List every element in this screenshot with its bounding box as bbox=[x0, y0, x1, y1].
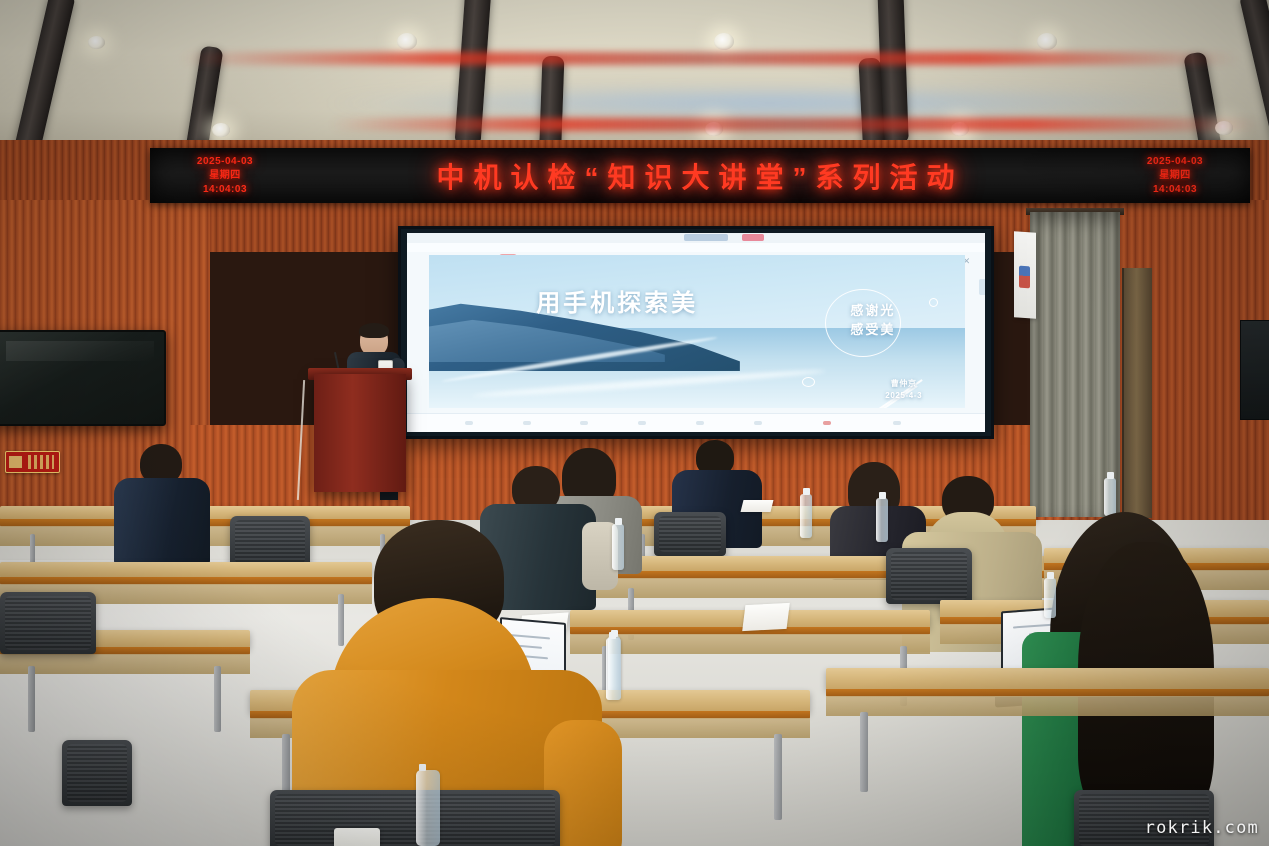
led-banner-title: 中机认检“知识大讲堂”系列活动 bbox=[300, 156, 1100, 196]
water-bottle bbox=[876, 498, 888, 542]
water-bottle bbox=[1044, 578, 1056, 618]
chair-mesh bbox=[67, 744, 127, 802]
ceiling-downlight bbox=[1037, 33, 1057, 50]
footer-icon bbox=[523, 421, 531, 425]
document-paper bbox=[741, 500, 774, 512]
footer-icon bbox=[638, 421, 646, 425]
projection-screen: ✕ 用手机探索美 感谢光 感受美 曹仲京 2025- bbox=[398, 226, 994, 439]
water-bottle bbox=[606, 638, 621, 700]
speaker-hair bbox=[359, 323, 389, 338]
led-date-left: 2025-04-03 bbox=[150, 155, 300, 169]
podium bbox=[314, 374, 406, 492]
led-date-right: 2025-04-03 bbox=[1100, 155, 1250, 169]
ceiling-downlight bbox=[397, 33, 417, 50]
footer-icon bbox=[580, 421, 588, 425]
chair bbox=[270, 790, 560, 846]
app-subtoolbar bbox=[407, 243, 985, 252]
laptop-text-line bbox=[510, 634, 550, 639]
paper-cup bbox=[334, 828, 380, 846]
app-footer-bar bbox=[407, 413, 985, 432]
ceiling-downlight bbox=[212, 123, 230, 137]
desk bbox=[0, 562, 372, 578]
ceiling-led-reflection bbox=[180, 52, 1240, 65]
side-door bbox=[1122, 268, 1152, 518]
screen-side-tab bbox=[979, 279, 985, 295]
wall-tv-left bbox=[0, 330, 166, 426]
slide-subtitle-line1: 感谢光 bbox=[850, 301, 895, 320]
chair-mesh bbox=[5, 596, 91, 650]
water-bottle bbox=[800, 494, 812, 538]
led-weekday-right: 星期四 bbox=[1100, 169, 1250, 183]
ceiling-led-reflection bbox=[330, 118, 1260, 131]
led-time-left: 14:04:03 bbox=[150, 183, 300, 197]
desk-front bbox=[570, 634, 930, 654]
ceiling-downlight bbox=[88, 36, 105, 49]
watermark: rokrik.com bbox=[1145, 818, 1259, 838]
desk-front bbox=[826, 696, 1269, 716]
footer-icon bbox=[696, 421, 704, 425]
water-bottle bbox=[1104, 478, 1116, 516]
chair bbox=[230, 516, 310, 568]
wall-safety-sign bbox=[5, 451, 60, 473]
slide-dot-small bbox=[929, 298, 938, 307]
led-banner: 2025-04-03 星期四 14:04:03 中机认检“知识大讲堂”系列活动 … bbox=[150, 148, 1250, 203]
footer-icon bbox=[823, 421, 831, 425]
presentation-slide: 用手机探索美 感谢光 感受美 曹仲京 2025-4-3 bbox=[429, 255, 965, 408]
chair bbox=[886, 548, 972, 604]
torso bbox=[114, 478, 210, 566]
document-paper bbox=[742, 603, 790, 631]
slide-presenter-block: 曹仲京 2025-4-3 bbox=[885, 378, 922, 402]
desk bbox=[826, 668, 1269, 690]
led-weekday-left: 星期四 bbox=[150, 169, 300, 183]
chair-mesh bbox=[891, 552, 967, 600]
desk-leg bbox=[338, 594, 344, 646]
chair-mesh bbox=[659, 516, 721, 552]
water-bottle bbox=[612, 524, 624, 570]
slide-date: 2025-4-3 bbox=[885, 390, 922, 402]
desk-leg bbox=[774, 734, 782, 820]
lecture-hall-photo: 2025-04-03 星期四 14:04:03 中机认检“知识大讲堂”系列活动 … bbox=[0, 0, 1269, 846]
slide-subtitle-line2: 感受美 bbox=[850, 320, 895, 339]
slide-dot-large bbox=[802, 377, 815, 387]
led-datetime-left: 2025-04-03 星期四 14:04:03 bbox=[150, 155, 300, 197]
chair bbox=[62, 740, 132, 806]
led-time-right: 14:04:03 bbox=[1100, 183, 1250, 197]
slide-subtitle: 感谢光 感受美 bbox=[850, 301, 895, 339]
chair bbox=[654, 512, 726, 556]
app-tab bbox=[684, 234, 728, 241]
desk-leg bbox=[214, 666, 221, 732]
footer-icon bbox=[893, 421, 901, 425]
desk-front bbox=[0, 654, 250, 674]
flag-banner bbox=[1014, 231, 1036, 319]
led-datetime-right: 2025-04-03 星期四 14:04:03 bbox=[1100, 155, 1250, 197]
chair-mesh bbox=[235, 520, 305, 564]
desk-leg bbox=[860, 712, 868, 792]
wall-tv-right bbox=[1240, 320, 1269, 420]
slide-presenter-name: 曹仲京 bbox=[885, 378, 922, 390]
ceiling-downlight bbox=[714, 33, 734, 50]
screen-display-area: ✕ 用手机探索美 感谢光 感受美 曹仲京 2025- bbox=[407, 233, 985, 432]
app-tab-badge bbox=[742, 234, 764, 241]
water-bottle bbox=[416, 770, 440, 846]
chair-mesh bbox=[275, 794, 555, 846]
chair bbox=[0, 592, 96, 654]
desk-leg bbox=[28, 666, 35, 732]
slide-title: 用手机探索美 bbox=[536, 283, 698, 318]
ceiling bbox=[0, 0, 1269, 152]
footer-icon bbox=[754, 421, 762, 425]
footer-icon bbox=[465, 421, 473, 425]
